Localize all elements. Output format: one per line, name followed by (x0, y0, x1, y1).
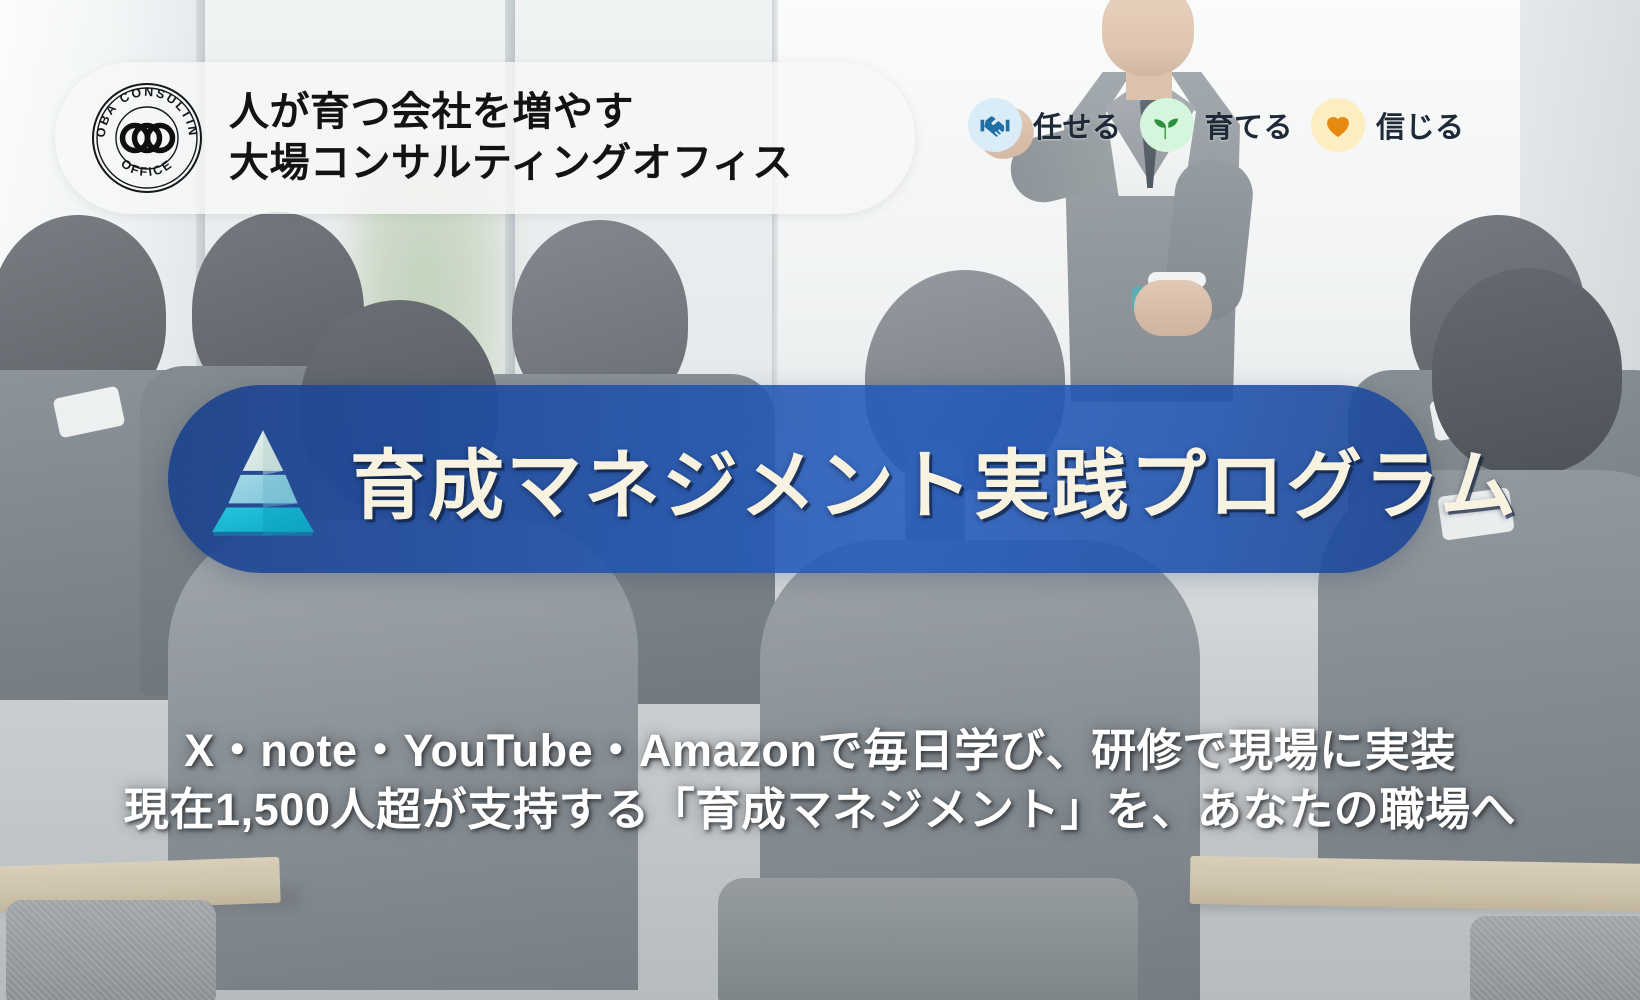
handshake-icon (968, 98, 1022, 152)
value-label: 信じる (1376, 104, 1465, 146)
sprout-icon (1140, 98, 1194, 152)
brand-company-name: 大場コンサルティングオフィス (229, 140, 793, 187)
ooba-consulting-office-seal-logo: OOBA CONSULTING OFFICE (91, 82, 203, 194)
description-line-2: 現在1,500人超が支持する「育成マネジメント」を、あなたの職場へ (0, 781, 1640, 840)
value-badge-sodateru: 育てる (1140, 98, 1294, 152)
description-block: X・note・YouTube・Amazonで毎日学び、研修で現場に実装 現在1,… (0, 722, 1640, 839)
description-line-1: X・note・YouTube・Amazonで毎日学び、研修で現場に実装 (0, 722, 1640, 781)
program-title: 育成マネジメント実践プログラム (350, 424, 1518, 534)
brand-tagline: 人が育つ会社を増やす (229, 89, 793, 136)
brand-identity-pill: OOBA CONSULTING OFFICE 人が育つ会社を増やす 大場コンサル… (55, 62, 915, 214)
seal-bottom-text: OFFICE (118, 156, 175, 179)
hero-banner: OOBA CONSULTING OFFICE 人が育つ会社を増やす 大場コンサル… (0, 0, 1640, 1000)
value-label: 任せる (1033, 104, 1122, 146)
value-badges: 任せる 育てる 信じる (968, 98, 1465, 152)
heart-icon (1311, 98, 1365, 152)
value-badge-makaseru: 任せる (968, 98, 1122, 152)
program-title-banner: 育成マネジメント実践プログラム (168, 385, 1432, 573)
three-rings-mark (123, 126, 173, 151)
value-label: 育てる (1205, 104, 1294, 146)
pyramid-icon (202, 418, 324, 540)
value-badge-shinjiru: 信じる (1311, 98, 1465, 152)
